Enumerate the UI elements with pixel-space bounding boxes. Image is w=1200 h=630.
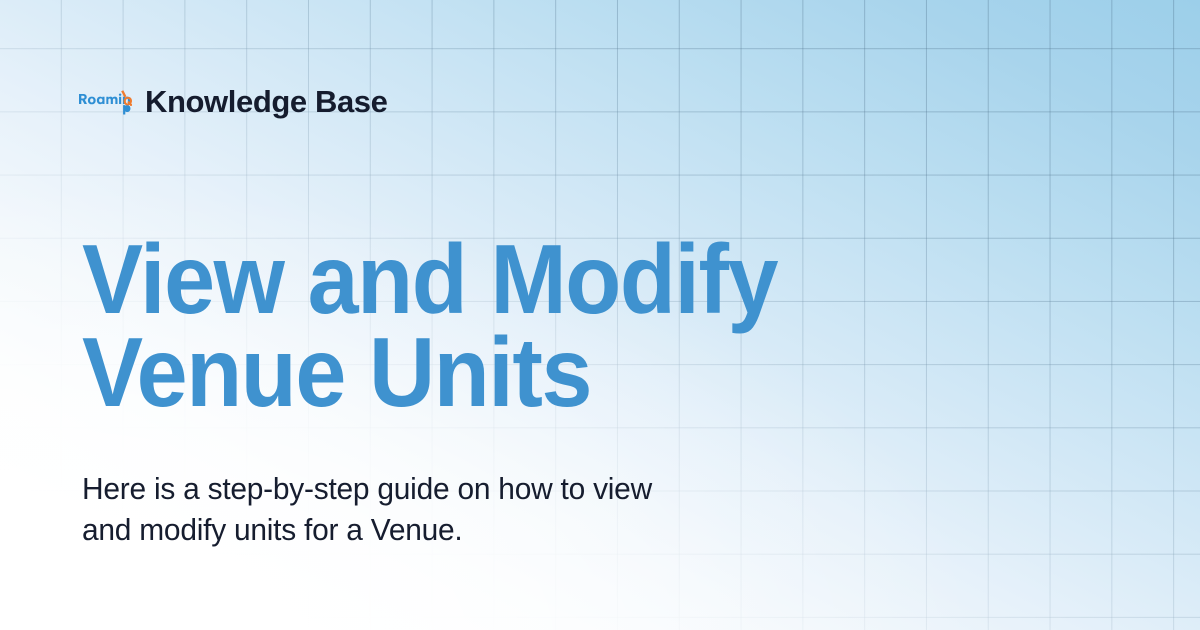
- brand-header: Knowledge Base: [78, 86, 387, 117]
- hero-headline: View and Modify Venue Units: [82, 233, 867, 419]
- banner-content: Knowledge Base View and Modify Venue Uni…: [0, 0, 1200, 630]
- hero-subtitle-line-1: Here is a step-by-step guide on how to v…: [82, 468, 883, 509]
- roamingiq-logo-icon: [78, 87, 132, 117]
- knowledge-base-banner: Knowledge Base View and Modify Venue Uni…: [0, 0, 1200, 630]
- hero-subtitle: Here is a step-by-step guide on how to v…: [82, 468, 883, 550]
- hero-headline-line-2: Venue Units: [82, 326, 867, 419]
- hero-subtitle-line-2: and modify units for a Venue.: [82, 509, 883, 550]
- hero-headline-line-1: View and Modify: [82, 233, 867, 326]
- page-title: Knowledge Base: [145, 86, 387, 117]
